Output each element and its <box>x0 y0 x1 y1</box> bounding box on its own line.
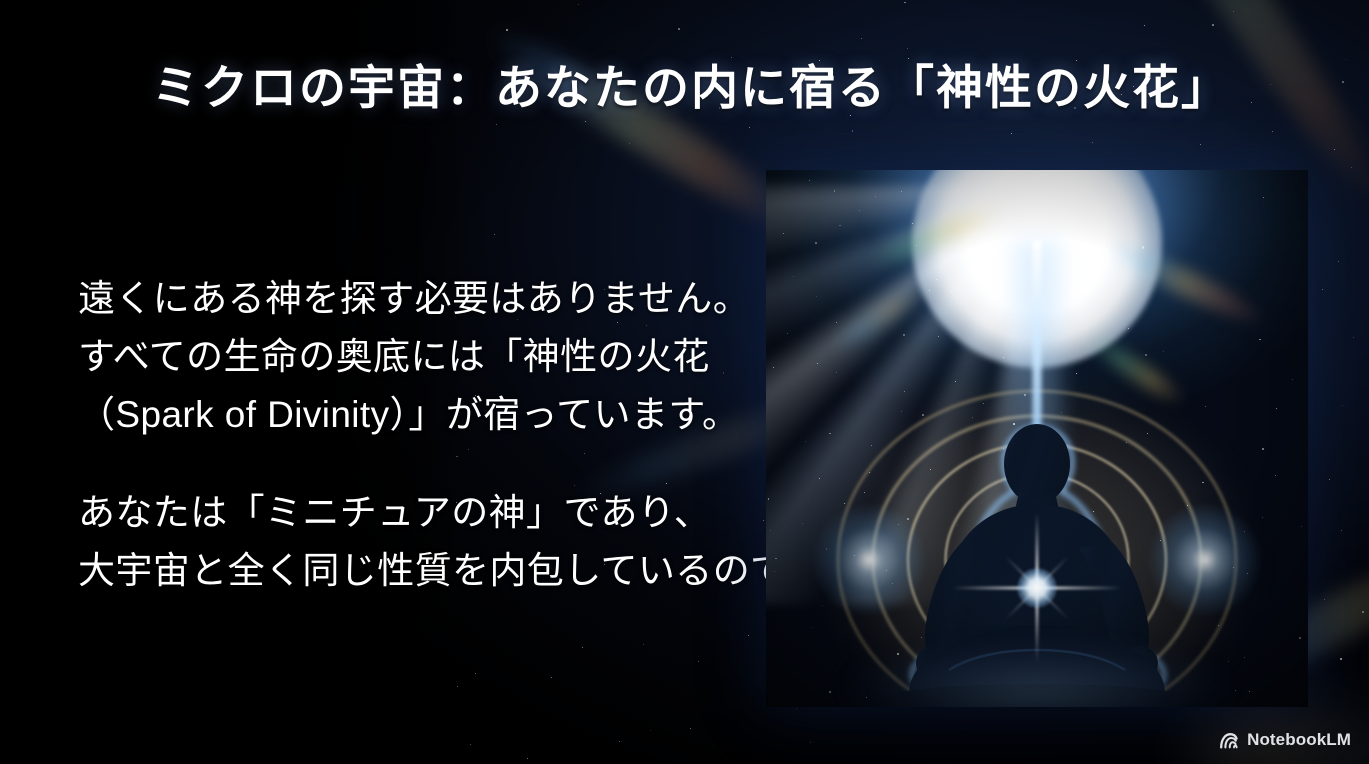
paragraph: 遠くにある神を探す必要はありません。 すべての生命の奥底には「神性の火花 （Sp… <box>78 270 758 444</box>
paragraph: あなたは「ミニチュアの神」であり、 大宇宙と全く同じ性質を内包しているのです。 <box>78 484 758 600</box>
illustration-image <box>766 170 1308 707</box>
body-line: すべての生命の奥底には「神性の火花 <box>78 328 758 386</box>
body-line: 遠くにある神を探す必要はありません。 <box>78 270 758 328</box>
body-copy: 遠くにある神を探す必要はありません。 すべての生命の奥底には「神性の火花 （Sp… <box>78 270 758 600</box>
notebooklm-watermark: NotebookLM <box>1219 730 1351 750</box>
body-line: あなたは「ミニチュアの神」であり、 <box>78 484 758 542</box>
slide-canvas: ミクロの宇宙：あなたの内に宿る「神性の火花」 遠くにある神を探す必要はありません… <box>0 0 1369 764</box>
watermark-label: NotebookLM <box>1247 730 1351 750</box>
page-title: ミクロの宇宙：あなたの内に宿る「神性の火花」 <box>152 62 1252 117</box>
illustration-vignette <box>766 170 1308 707</box>
body-line: 大宇宙と全く同じ性質を内包しているのです。 <box>78 542 758 600</box>
notebooklm-arc-icon <box>1219 732 1239 749</box>
body-line: （Spark of Divinity）」が宿っています。 <box>78 386 758 444</box>
